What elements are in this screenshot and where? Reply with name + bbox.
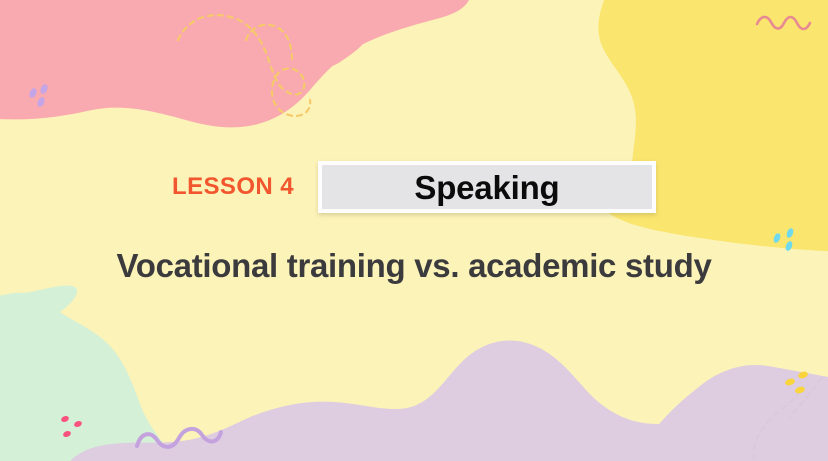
slide-canvas: LESSON 4 Speaking Vocational training vs…	[0, 0, 828, 461]
lesson-number-label: LESSON 4	[172, 175, 294, 199]
skill-badge: Speaking	[318, 161, 656, 213]
slide-content: LESSON 4 Speaking Vocational training vs…	[0, 0, 828, 461]
lesson-heading-row: LESSON 4 Speaking	[0, 158, 828, 216]
skill-badge-label: Speaking	[414, 171, 559, 204]
page-title: Vocational training vs. academic study	[0, 246, 828, 286]
